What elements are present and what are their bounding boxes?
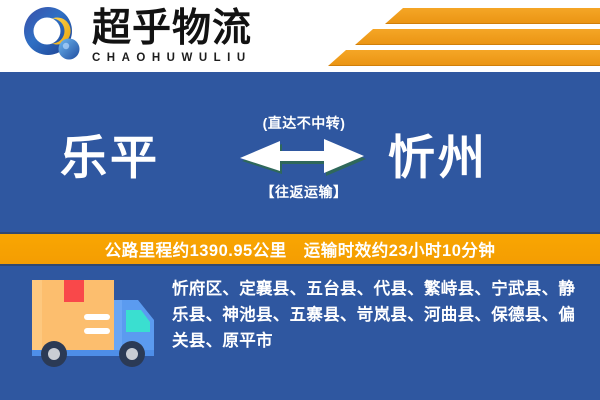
banner-header: 超乎物流 CHAOHUWULIU [0,0,600,72]
orange-speed-stripes-icon [310,0,600,72]
route-info-bar: 公路里程约1390.95公里 运输时效约23小时10分钟 [0,232,600,266]
stripe-bottom [328,50,600,66]
origin-city: 乐平 [60,130,160,186]
circular-q-logo-icon [22,6,84,66]
coverage-area-list: 忻府区、定襄县、五台县、代县、繁峙县、宁武县、静乐县、神池县、五寨县、岢岚县、河… [172,276,580,354]
coverage-section: 忻府区、定襄县、五台县、代县、繁峙县、宁武县、静乐县、神池县、五寨县、岢岚县、河… [0,268,600,400]
brand-text-block: 超乎物流 CHAOHUWULIU [92,6,252,65]
delivery-truck-icon [26,274,162,370]
distance-duration-text: 公路里程约1390.95公里 运输时效约23小时10分钟 [105,237,496,261]
banner-body: 乐平 (直达不中转) 【往返运输】 忻州 公路里程约1390.95公里 运输时效… [0,72,600,400]
logistics-route-banner: 超乎物流 CHAOHUWULIU 乐平 (直达不中转) 【往返运输 [0,0,600,400]
stripe-top [385,8,600,24]
route-row: 乐平 (直达不中转) 【往返运输】 忻州 [0,106,600,226]
stripe-middle [355,29,600,45]
route-arrow-block: (直达不中转) 【往返运输】 [237,114,371,201]
brand-name-cn: 超乎物流 [92,8,252,50]
round-trip-label: 【往返运输】 [237,183,371,201]
brand-logo: 超乎物流 CHAOHUWULIU [22,6,252,66]
double-headed-arrow-icon [240,137,368,179]
brand-name-en: CHAOHUWULIU [92,51,252,65]
direct-service-label: (直达不中转) [237,114,371,132]
destination-city: 忻州 [388,130,488,186]
